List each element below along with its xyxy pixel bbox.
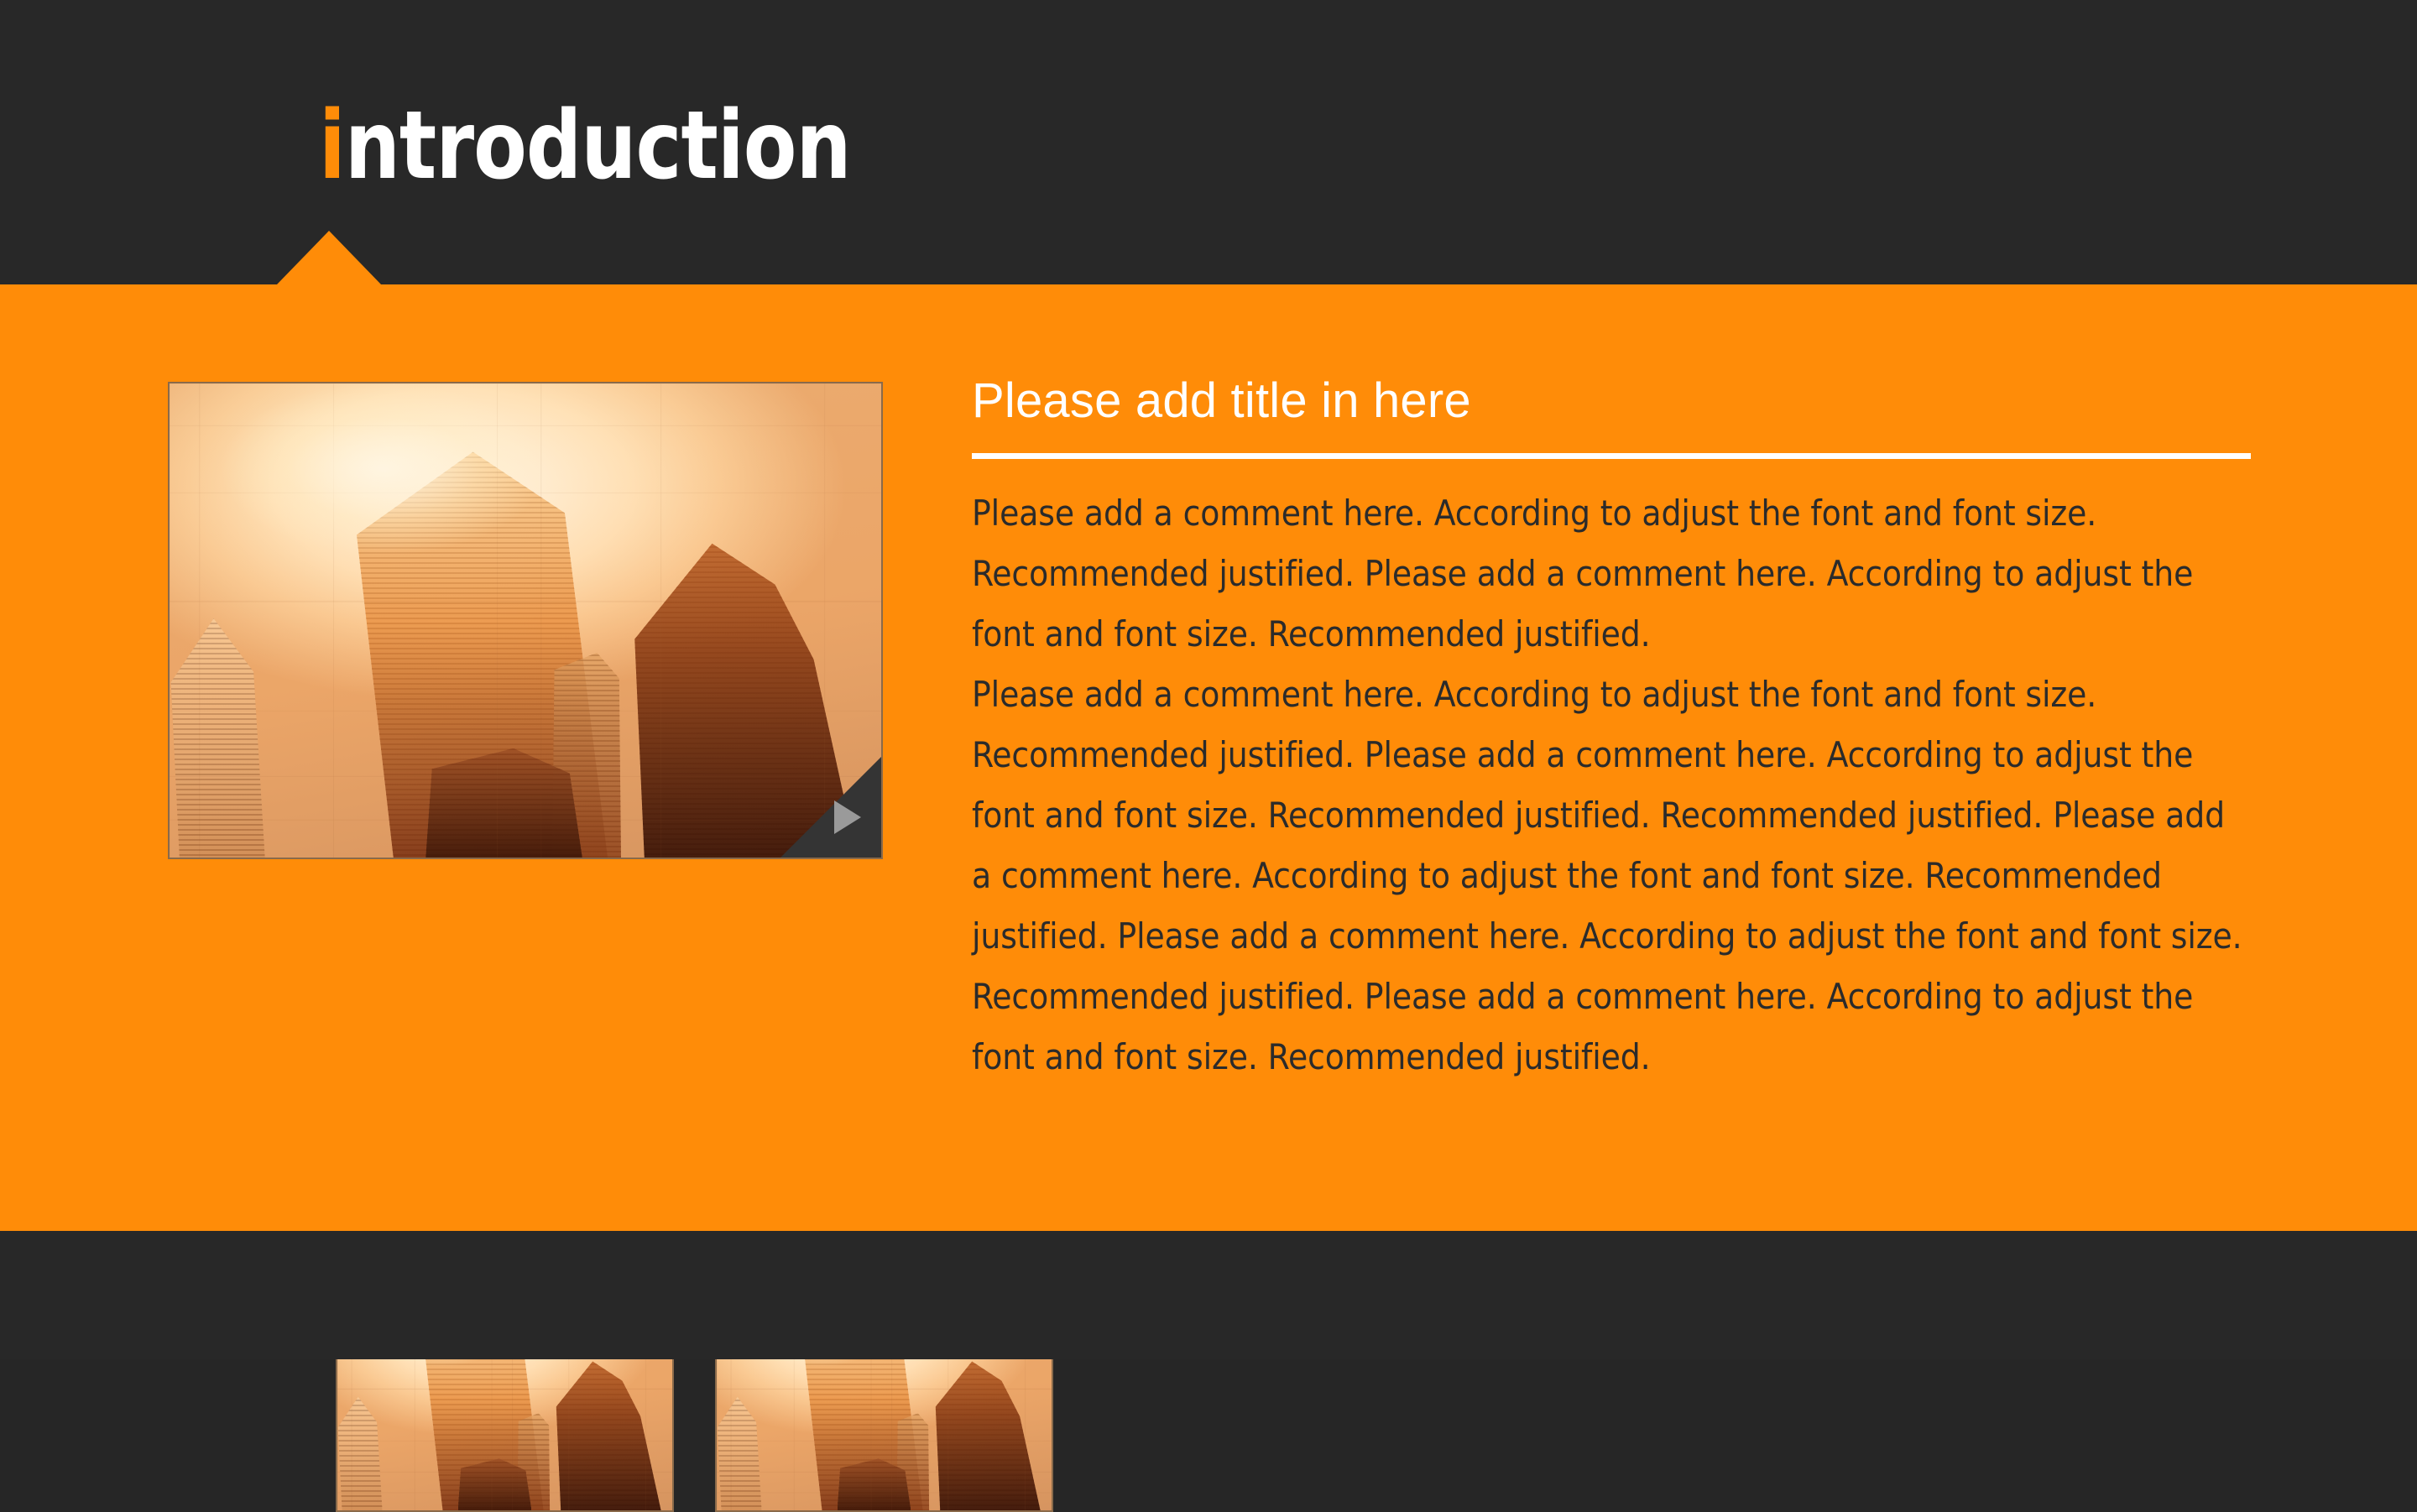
play-corner-wedge [780, 757, 881, 858]
page-title-text: ntroduction [345, 91, 851, 201]
media-column [168, 382, 883, 859]
slide-root: introduction [0, 0, 2417, 1359]
body-paragraph-1: Please add a comment here. According to … [972, 483, 2251, 665]
page-title-accent-letter: i [319, 91, 345, 201]
play-corner[interactable] [780, 757, 881, 858]
content-column: Please add title in here Please add a co… [972, 376, 2251, 1087]
main-image[interactable] [168, 382, 883, 859]
play-triangle-icon [834, 800, 861, 834]
image-grid-overlay-coarse [170, 383, 881, 858]
body-paragraph-2: Please add a comment here. According to … [972, 665, 2251, 1087]
body-text: Please add a comment here. According to … [972, 483, 2251, 1087]
band-notch-triangle [277, 231, 381, 284]
title-divider-rule [972, 453, 2251, 459]
page-title: introduction [319, 99, 851, 193]
content-title: Please add title in here [972, 376, 2251, 427]
slide-footer-bar [0, 1231, 2417, 1359]
